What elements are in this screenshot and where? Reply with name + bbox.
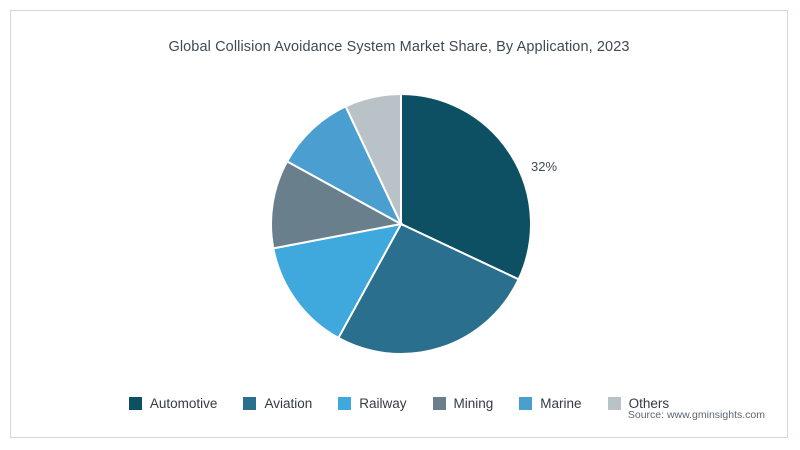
legend-swatch-icon: [338, 397, 351, 410]
chart-frame: Global Collision Avoidance System Market…: [10, 10, 788, 438]
pie-chart: [270, 93, 532, 355]
legend-item-aviation[interactable]: Aviation: [243, 396, 312, 411]
legend-item-railway[interactable]: Railway: [338, 396, 406, 411]
legend-label: Automotive: [150, 396, 218, 411]
legend-label: Aviation: [264, 396, 312, 411]
legend-item-marine[interactable]: Marine: [519, 396, 581, 411]
page-title: Global Collision Avoidance System Market…: [11, 39, 787, 55]
legend-item-mining[interactable]: Mining: [433, 396, 494, 411]
source-note: Source: www.gminsights.com: [628, 409, 765, 421]
legend-swatch-icon: [519, 397, 532, 410]
legend-item-automotive[interactable]: Automotive: [129, 396, 218, 411]
legend-swatch-icon: [129, 397, 142, 410]
legend-swatch-icon: [433, 397, 446, 410]
slice-label-automotive: 32%: [531, 159, 557, 174]
legend-label: Mining: [454, 396, 494, 411]
legend-label: Railway: [359, 396, 406, 411]
legend-swatch-icon: [243, 397, 256, 410]
legend-swatch-icon: [608, 397, 621, 410]
legend-label: Marine: [540, 396, 581, 411]
pie-svg: [270, 93, 532, 355]
